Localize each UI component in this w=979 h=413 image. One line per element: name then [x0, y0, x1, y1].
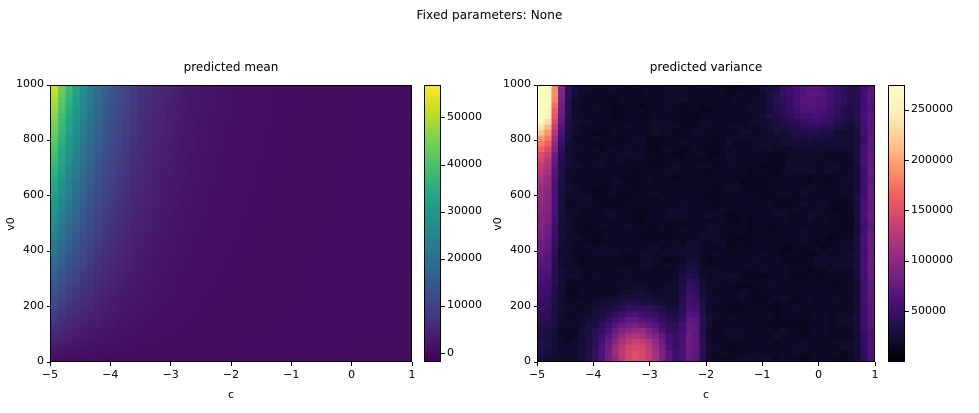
y-tick-label: 800 — [475, 132, 531, 145]
colorbar-tick-mark — [905, 311, 909, 312]
colorbar-tick-label: 250000 — [911, 102, 953, 115]
colorbar-tick-mark — [441, 165, 445, 166]
colorbar-tick-mark — [441, 212, 445, 213]
x-tick-mark — [875, 362, 876, 366]
colorbar-predicted-variance[interactable] — [888, 85, 905, 362]
x-tick-mark — [50, 362, 51, 366]
x-tick-label: −1 — [737, 368, 787, 381]
x-tick-mark — [291, 362, 292, 366]
y-tick-mark — [534, 362, 538, 363]
colorbar-tick-mark — [905, 160, 909, 161]
x-tick-label: −1 — [266, 368, 316, 381]
colorbar-tick-label: 0 — [447, 346, 454, 359]
y-tick-mark — [534, 251, 538, 252]
y-tick-label: 600 — [0, 188, 44, 201]
colorbar-tick-label: 40000 — [447, 157, 482, 170]
colorbar-tick-mark — [905, 210, 909, 211]
x-tick-mark — [231, 362, 232, 366]
y-tick-label: 1000 — [475, 77, 531, 90]
y-tick-mark — [47, 140, 51, 141]
x-tick-label: 1 — [850, 368, 900, 381]
x-tick-mark — [537, 362, 538, 366]
y-tick-label: 200 — [475, 299, 531, 312]
y-tick-mark — [47, 251, 51, 252]
x-tick-label: 0 — [794, 368, 844, 381]
colorbar-tick-label: 50000 — [911, 304, 946, 317]
x-tick-mark — [706, 362, 707, 366]
x-tick-label: −4 — [568, 368, 618, 381]
y-tick-label: 600 — [475, 188, 531, 201]
colorbar-tick-label: 100000 — [911, 253, 953, 266]
x-tick-mark — [818, 362, 819, 366]
colorbar-tick-mark — [441, 306, 445, 307]
x-tick-mark — [351, 362, 352, 366]
colorbar-tick-label: 200000 — [911, 153, 953, 166]
y-tick-label: 400 — [0, 243, 44, 256]
xlabel-predicted-variance: c — [537, 388, 875, 401]
colorbar-tick-label: 150000 — [911, 203, 953, 216]
matplotlib-figure: Fixed parameters: None predicted mean −5… — [0, 0, 979, 413]
y-tick-mark — [534, 85, 538, 86]
x-tick-label: 1 — [387, 368, 437, 381]
y-tick-mark — [47, 195, 51, 196]
heatmap-canvas-predicted-variance — [538, 86, 874, 361]
colorbar-canvas-predicted-mean — [425, 86, 440, 361]
x-tick-mark — [170, 362, 171, 366]
axes-title-predicted-variance: predicted variance — [537, 60, 875, 74]
y-tick-label: 200 — [0, 299, 44, 312]
colorbar-tick-mark — [905, 261, 909, 262]
colorbar-canvas-predicted-variance — [889, 86, 904, 361]
heatmap-predicted-variance[interactable] — [537, 85, 875, 362]
y-tick-mark — [47, 306, 51, 307]
y-tick-mark — [534, 306, 538, 307]
colorbar-tick-label: 50000 — [447, 110, 482, 123]
ylabel-predicted-variance: v0 — [491, 204, 504, 244]
x-tick-mark — [649, 362, 650, 366]
x-tick-label: −3 — [625, 368, 675, 381]
y-tick-label: 1000 — [0, 77, 44, 90]
y-tick-label: 400 — [475, 243, 531, 256]
y-tick-mark — [47, 85, 51, 86]
figure-suptitle: Fixed parameters: None — [0, 8, 979, 22]
x-tick-label: −3 — [146, 368, 196, 381]
x-tick-label: −5 — [512, 368, 562, 381]
colorbar-tick-label: 30000 — [447, 204, 482, 217]
heatmap-predicted-mean[interactable] — [50, 85, 412, 362]
y-tick-mark — [534, 195, 538, 196]
colorbar-tick-mark — [441, 353, 445, 354]
x-tick-mark — [412, 362, 413, 366]
colorbar-predicted-mean[interactable] — [424, 85, 441, 362]
colorbar-tick-mark — [441, 259, 445, 260]
colorbar-tick-mark — [441, 117, 445, 118]
x-tick-mark — [762, 362, 763, 366]
x-tick-label: −2 — [206, 368, 256, 381]
y-tick-mark — [534, 140, 538, 141]
axes-title-predicted-mean: predicted mean — [50, 60, 412, 74]
x-tick-label: 0 — [327, 368, 377, 381]
x-tick-mark — [110, 362, 111, 366]
heatmap-canvas-predicted-mean — [51, 86, 411, 361]
xlabel-predicted-mean: c — [50, 388, 412, 401]
x-tick-label: −2 — [681, 368, 731, 381]
y-tick-mark — [47, 362, 51, 363]
y-tick-label: 0 — [0, 354, 44, 367]
x-tick-label: −5 — [25, 368, 75, 381]
x-tick-label: −4 — [85, 368, 135, 381]
ylabel-predicted-mean: v0 — [4, 204, 17, 244]
x-tick-mark — [593, 362, 594, 366]
y-tick-label: 0 — [475, 354, 531, 367]
y-tick-label: 800 — [0, 132, 44, 145]
colorbar-tick-mark — [905, 110, 909, 111]
